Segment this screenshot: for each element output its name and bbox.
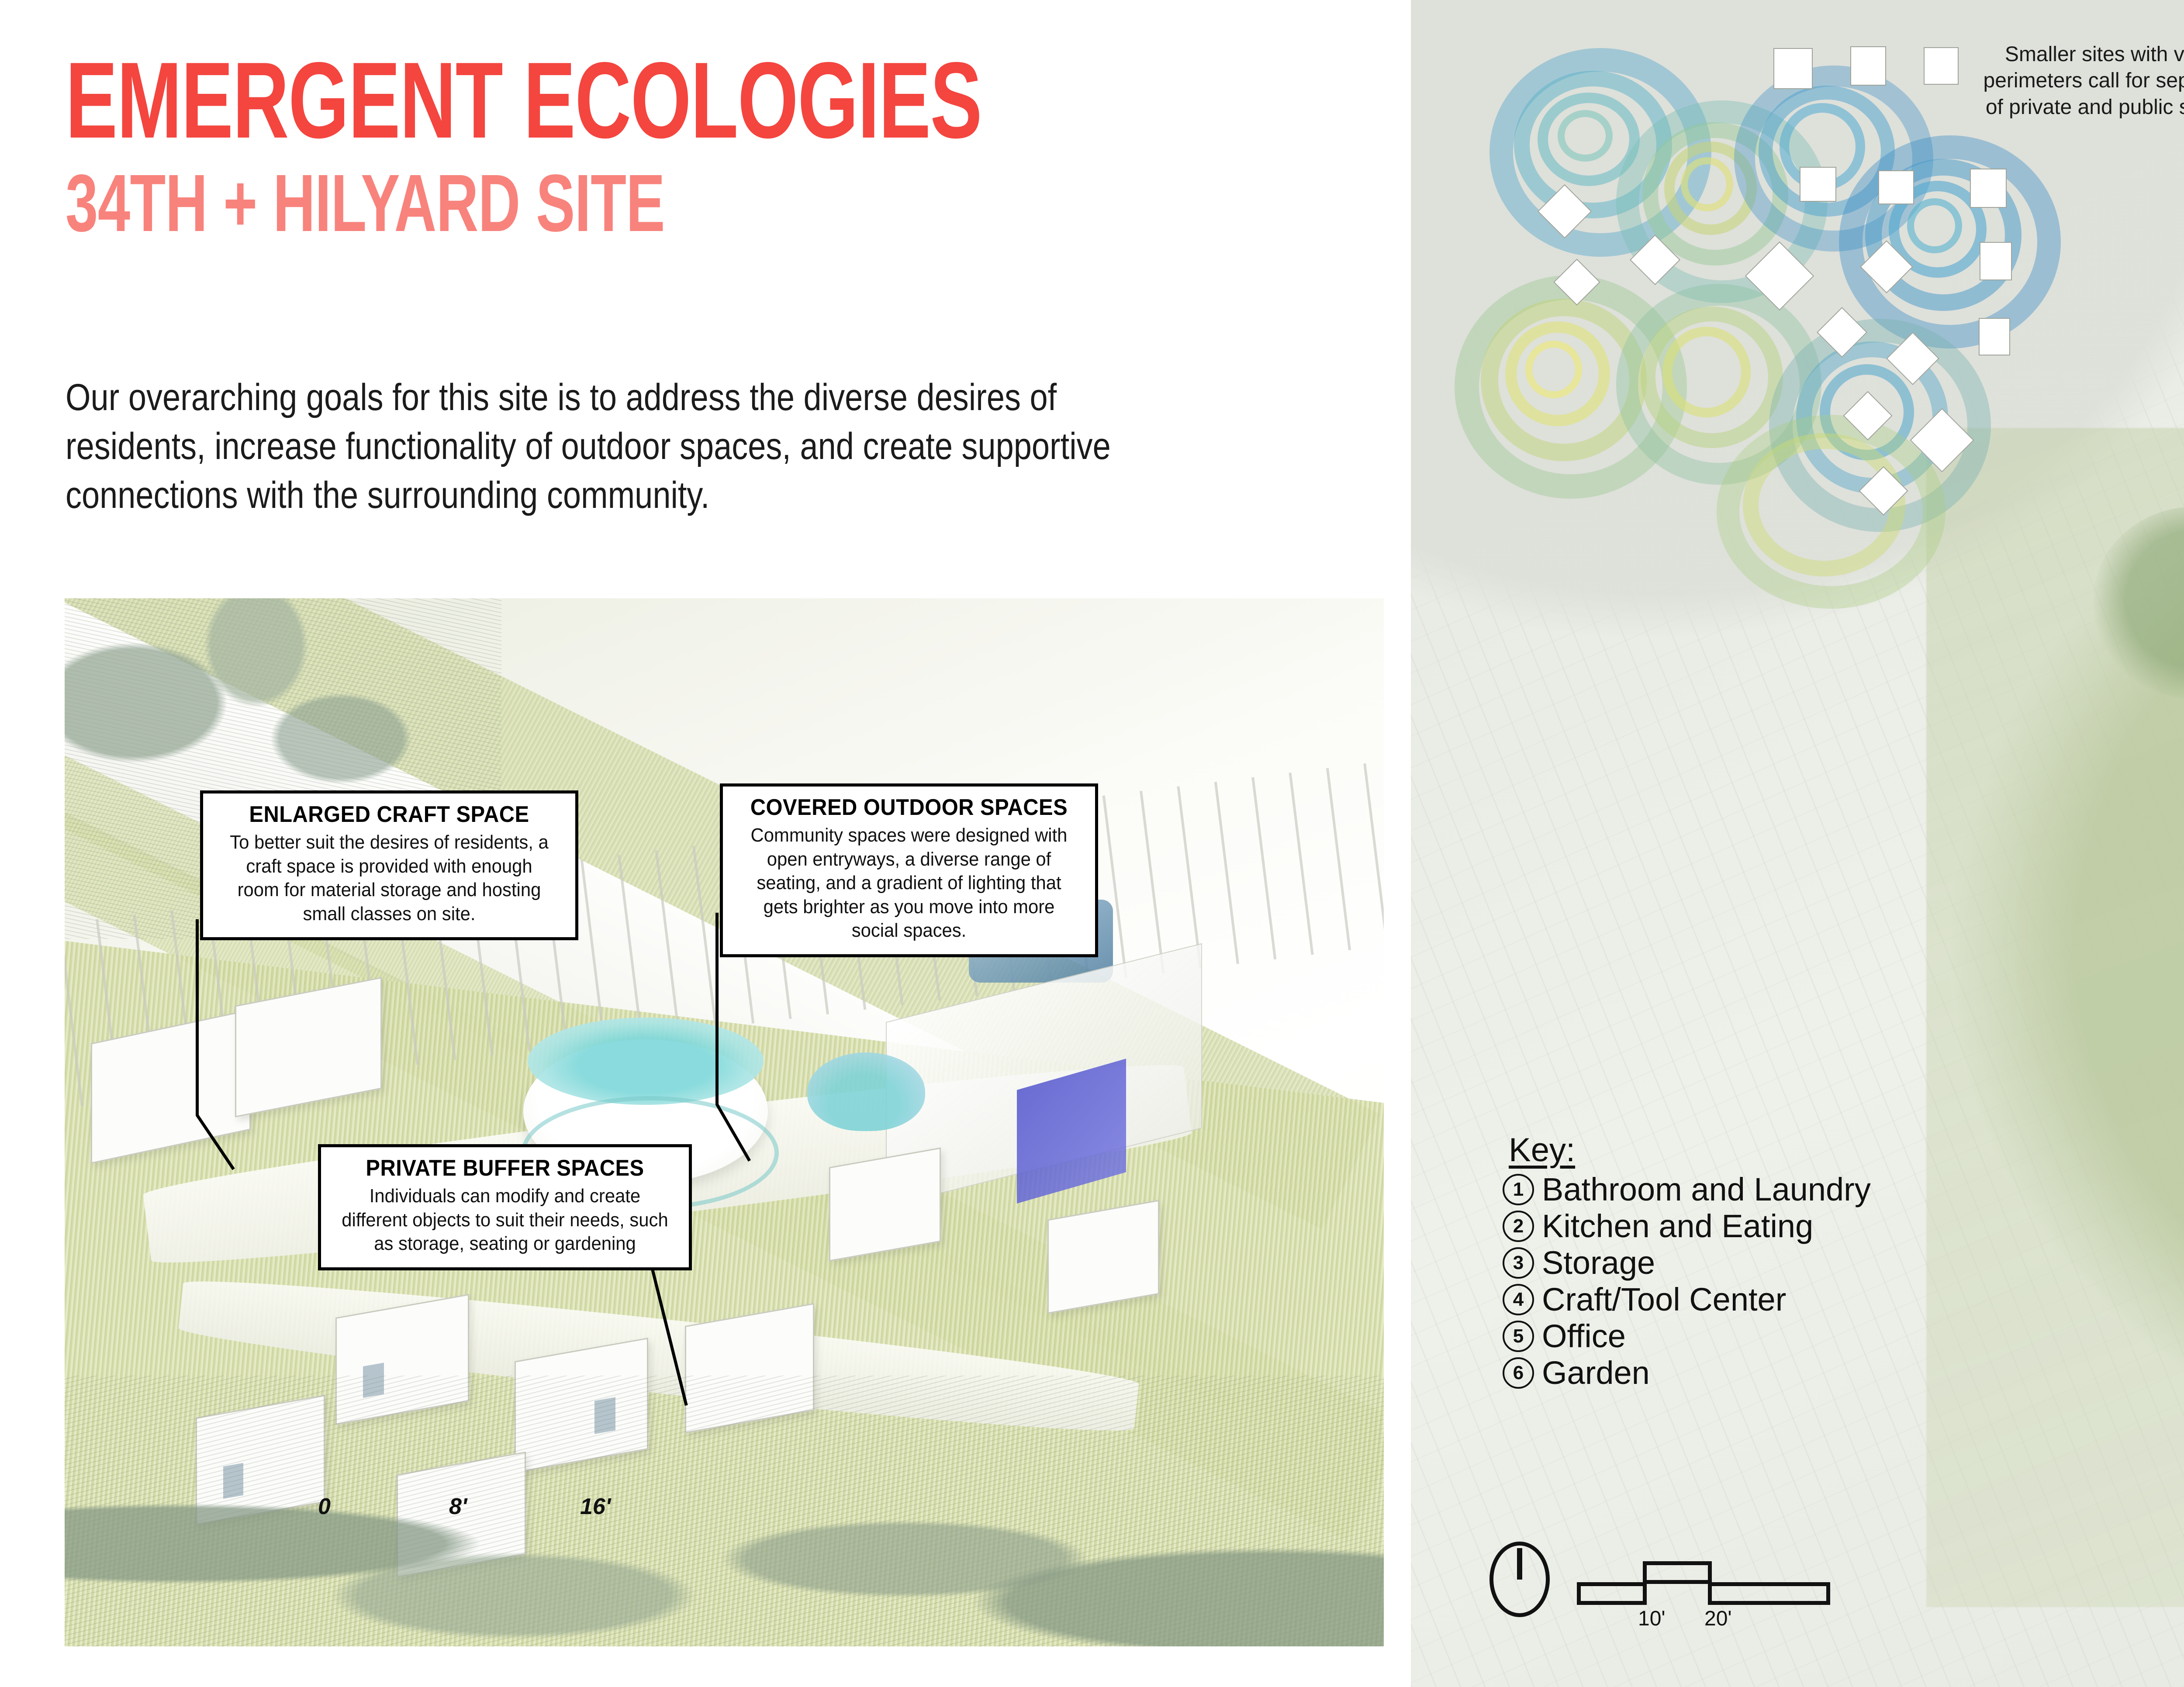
key-label: Bathroom and Laundry (1542, 1173, 1871, 1206)
key-number: 1 (1503, 1174, 1534, 1205)
callout-enlarged-craft-space: ENLARGED CRAFT SPACE To better suit the … (200, 790, 578, 940)
key-label: Garden (1542, 1357, 1650, 1389)
key-label: Storage (1542, 1247, 1655, 1279)
callout-title: PRIVATE BUFFER SPACES (343, 1156, 667, 1181)
scale-tick-label: 10' (1638, 1607, 1666, 1631)
page-title: EMERGENT ECOLOGIES (66, 52, 978, 148)
title-block: EMERGENT ECOLOGIES 34TH + HILYARD SITE (66, 52, 1332, 242)
key-item-4: 4 Craft/Tool Center (1503, 1283, 1871, 1316)
key-item-5: 5 Office (1503, 1320, 1871, 1352)
page-subtitle: 34TH + HILYARD SITE (66, 165, 978, 242)
key-item-6: 6 Garden (1503, 1357, 1871, 1389)
scale-tick-label: 20' (1704, 1607, 1732, 1631)
contour-heat-diagram (1472, 13, 2049, 520)
key-heading: Key: (1509, 1131, 1871, 1169)
callout-private-buffer-spaces: PRIVATE BUFFER SPACES Individuals can mo… (318, 1144, 692, 1270)
key-number: 4 (1503, 1284, 1534, 1315)
scale-tick-label: 16' (580, 1494, 611, 1520)
render-glass-dome (807, 1052, 925, 1131)
key-label: Kitchen and Eating (1542, 1210, 1813, 1242)
diagram-note: Smaller sites with visible perimeters ca… (1979, 41, 2184, 121)
key-number: 2 (1503, 1211, 1534, 1242)
goal-statement: Our overarching goals for this site is t… (66, 373, 1200, 520)
site-plan-panel (1411, 0, 2184, 1687)
key-number: 6 (1503, 1357, 1534, 1389)
render-hut (829, 1147, 941, 1261)
title-and-rendering-panel: EMERGENT ECOLOGIES 34TH + HILYARD SITE O… (0, 0, 1411, 1687)
key-number: 3 (1503, 1247, 1534, 1279)
perspective-rendering: ENLARGED CRAFT SPACE To better suit the … (65, 598, 1384, 1646)
scale-tick-label: 8' (449, 1494, 467, 1520)
key-item-3: 3 Storage (1503, 1247, 1871, 1279)
key-item-1: 1 Bathroom and Laundry (1503, 1173, 1871, 1206)
key-label: Craft/Tool Center (1542, 1283, 1786, 1316)
key-item-2: 2 Kitchen and Eating (1503, 1210, 1871, 1242)
plan-scale-bar: 10' 20' (1577, 1561, 1830, 1605)
callout-body: To better suit the desires of residents,… (223, 831, 555, 926)
plan-key-legend: Key: 1 Bathroom and Laundry 2 Kitchen an… (1503, 1131, 1871, 1389)
callout-title: COVERED OUTDOOR SPACES (745, 795, 1073, 820)
scale-segment (1577, 1582, 1647, 1605)
scale-segment (1643, 1561, 1712, 1584)
key-label: Office (1542, 1320, 1626, 1352)
scale-segment (1708, 1582, 1830, 1605)
render-hut (1047, 1200, 1159, 1314)
callout-title: ENLARGED CRAFT SPACE (225, 802, 553, 827)
callout-body: Individuals can modify and create differ… (341, 1184, 669, 1256)
render-trees-foreground (65, 1376, 1384, 1646)
north-arrow-icon (1489, 1542, 1550, 1617)
callout-leader-line (196, 919, 256, 1116)
callout-covered-outdoor-spaces: COVERED OUTDOOR SPACES Community spaces … (720, 783, 1098, 957)
key-number: 5 (1503, 1321, 1534, 1352)
scale-tick-label: 0 (318, 1494, 331, 1520)
callout-body: Community spaces were designed with open… (743, 824, 1075, 943)
